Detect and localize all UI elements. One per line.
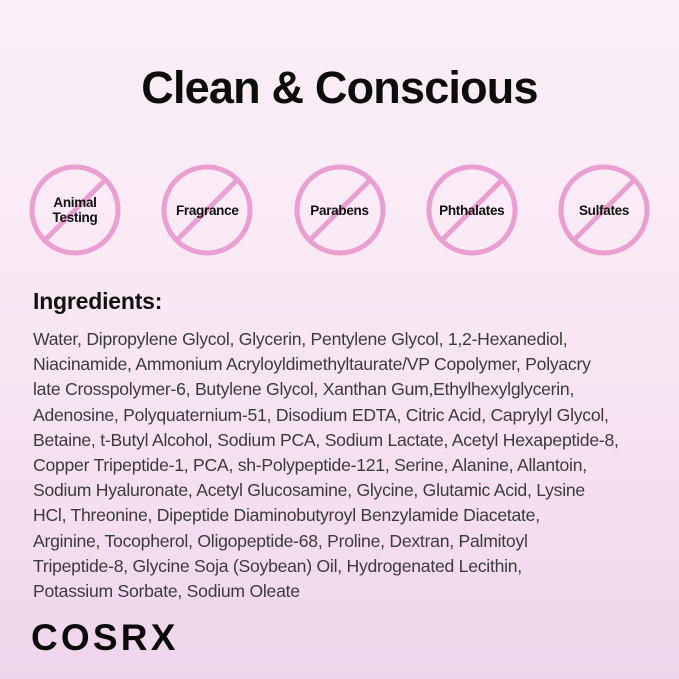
badge-label: Parabens [309, 203, 369, 218]
badge-parabens: Parabens [293, 163, 387, 257]
brand-logo: COSRX [31, 617, 179, 659]
badge-animal-testing: Animal Testing [28, 163, 122, 257]
ingredients-heading: Ingredients: [33, 288, 162, 315]
badge-label: Phthalates [438, 203, 505, 218]
claims-badge-row: Animal Testing Fragrance Parabens Phth [28, 163, 651, 257]
badge-label-line2: Testing [53, 210, 98, 225]
badge-label: Sulfates [578, 203, 630, 218]
product-info-panel: Clean & Conscious Animal Testing Fragran… [0, 0, 679, 679]
badge-label: Animal Testing [52, 195, 99, 226]
badge-sulfates: Sulfates [557, 163, 651, 257]
badge-phthalates: Phthalates [425, 163, 519, 257]
badge-fragrance: Fragrance [160, 163, 254, 257]
badge-label-line1: Animal [53, 195, 96, 210]
badge-label: Fragrance [175, 203, 240, 218]
page-title: Clean & Conscious [0, 62, 679, 114]
ingredients-list: Water, Dipropylene Glycol, Glycerin, Pen… [33, 327, 650, 604]
